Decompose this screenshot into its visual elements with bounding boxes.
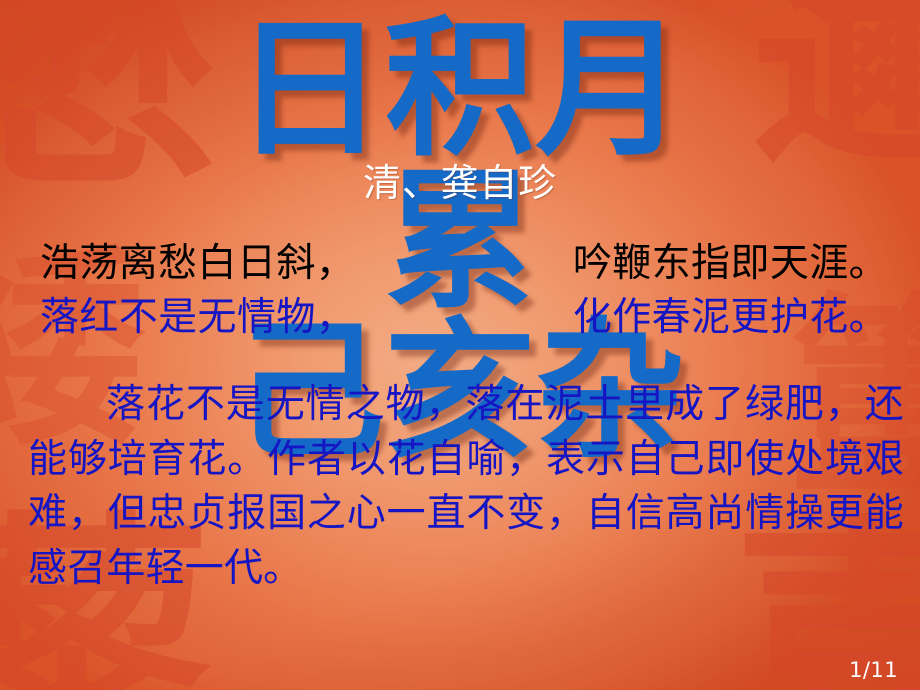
poem-line-1: 浩荡离愁白日斜， 吟鞭东指即天涯。 xyxy=(40,232,888,288)
slide-content: 清、龚自珍 浩荡离愁白日斜， 吟鞭东指即天涯。 落红不是无情物， 化作春泥更护花… xyxy=(0,0,920,690)
poem-author-line: 清、龚自珍 xyxy=(0,152,920,207)
poem-line-2-first-half: 落红不是无情物， xyxy=(40,286,355,342)
poem-line-1-second-half: 吟鞭东指即天涯。 xyxy=(573,232,888,288)
poem-line-1-first-half: 浩荡离愁白日斜， xyxy=(40,232,355,288)
poem-line-2-second-half: 化作春泥更护花。 xyxy=(573,286,888,342)
poem-explanation-paragraph: 落花不是无情之物，落在泥土里成了绿肥，还能够培育花。作者以花自喻，表示自己即使处… xyxy=(28,378,904,596)
presentation-slide: 懋 邇 藜 壴 緌 簠 日积月 累 己亥杂 清、龚自珍 浩荡离愁白日斜， 吟鞭东… xyxy=(0,0,920,690)
poem-line-2: 落红不是无情物， 化作春泥更护花。 xyxy=(40,286,888,342)
page-number-indicator: 1/11 xyxy=(849,658,898,682)
